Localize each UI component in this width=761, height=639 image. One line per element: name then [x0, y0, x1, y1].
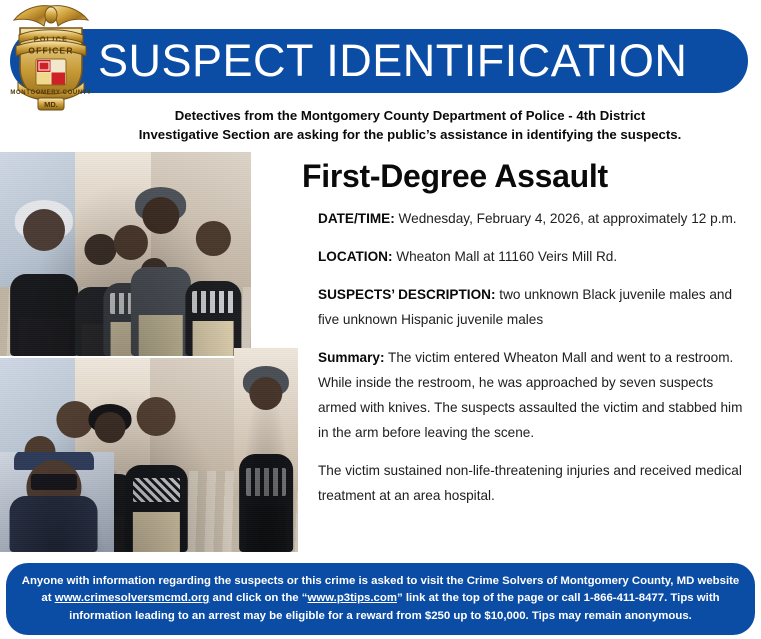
subtitle-line-2: Investigative Section are asking for the… — [60, 125, 760, 144]
footer-text: Anyone with information regarding the su… — [6, 573, 755, 626]
p3tips-link[interactable]: www.p3tips.com — [308, 592, 397, 604]
poster-subtitle: Detectives from the Montgomery County De… — [60, 106, 760, 144]
police-badge-icon: POLICE OFFICER MONTGOMERY COUNTY MD. — [6, 2, 96, 114]
poster-header: SUSPECT IDENTIFICATION — [0, 0, 761, 102]
field-label-summary: Summary: — [318, 350, 384, 365]
field-label-suspects-description: SUSPECTS’ DESCRIPTION: — [318, 287, 496, 302]
svg-text:MD.: MD. — [44, 100, 58, 109]
crime-solvers-footer: Anyone with information regarding the su… — [6, 563, 755, 635]
crimesolvers-link[interactable]: www.crimesolversmcmd.org — [55, 592, 210, 604]
svg-text:MONTGOMERY COUNTY: MONTGOMERY COUNTY — [10, 90, 91, 96]
footer-part-4: Tips may remain anonymous. — [532, 610, 692, 622]
surveillance-photo-right — [234, 348, 298, 552]
incident-details: First-Degree Assault DATE/TIME: Wednesda… — [302, 158, 754, 521]
page-title: SUSPECT IDENTIFICATION — [98, 31, 738, 91]
field-date-time: DATE/TIME: Wednesday, February 4, 2026, … — [302, 206, 754, 231]
footer-part-2: and click on the “ — [209, 592, 307, 604]
closing-paragraph: The victim sustained non-life-threatenin… — [302, 458, 754, 508]
field-value-date-time: Wednesday, February 4, 2026, at approxim… — [395, 211, 737, 226]
svg-text:OFFICER: OFFICER — [28, 46, 73, 56]
field-label-date-time: DATE/TIME: — [318, 211, 395, 226]
suspect-identification-poster: SUSPECT IDENTIFICATION — [0, 0, 761, 639]
crime-title: First-Degree Assault — [302, 158, 754, 194]
field-value-location: Wheaton Mall at 11160 Veirs Mill Rd. — [393, 249, 618, 264]
surveillance-photo-top — [0, 152, 251, 356]
field-summary: Summary: The victim entered Wheaton Mall… — [302, 345, 754, 445]
surveillance-photo-collage — [0, 152, 300, 552]
field-location: LOCATION: Wheaton Mall at 11160 Veirs Mi… — [302, 244, 754, 269]
subtitle-line-1: Detectives from the Montgomery County De… — [60, 106, 760, 125]
field-suspects-description: SUSPECTS’ DESCRIPTION: two unknown Black… — [302, 282, 754, 332]
surveillance-photo-face — [0, 452, 114, 552]
field-label-location: LOCATION: — [318, 249, 393, 264]
